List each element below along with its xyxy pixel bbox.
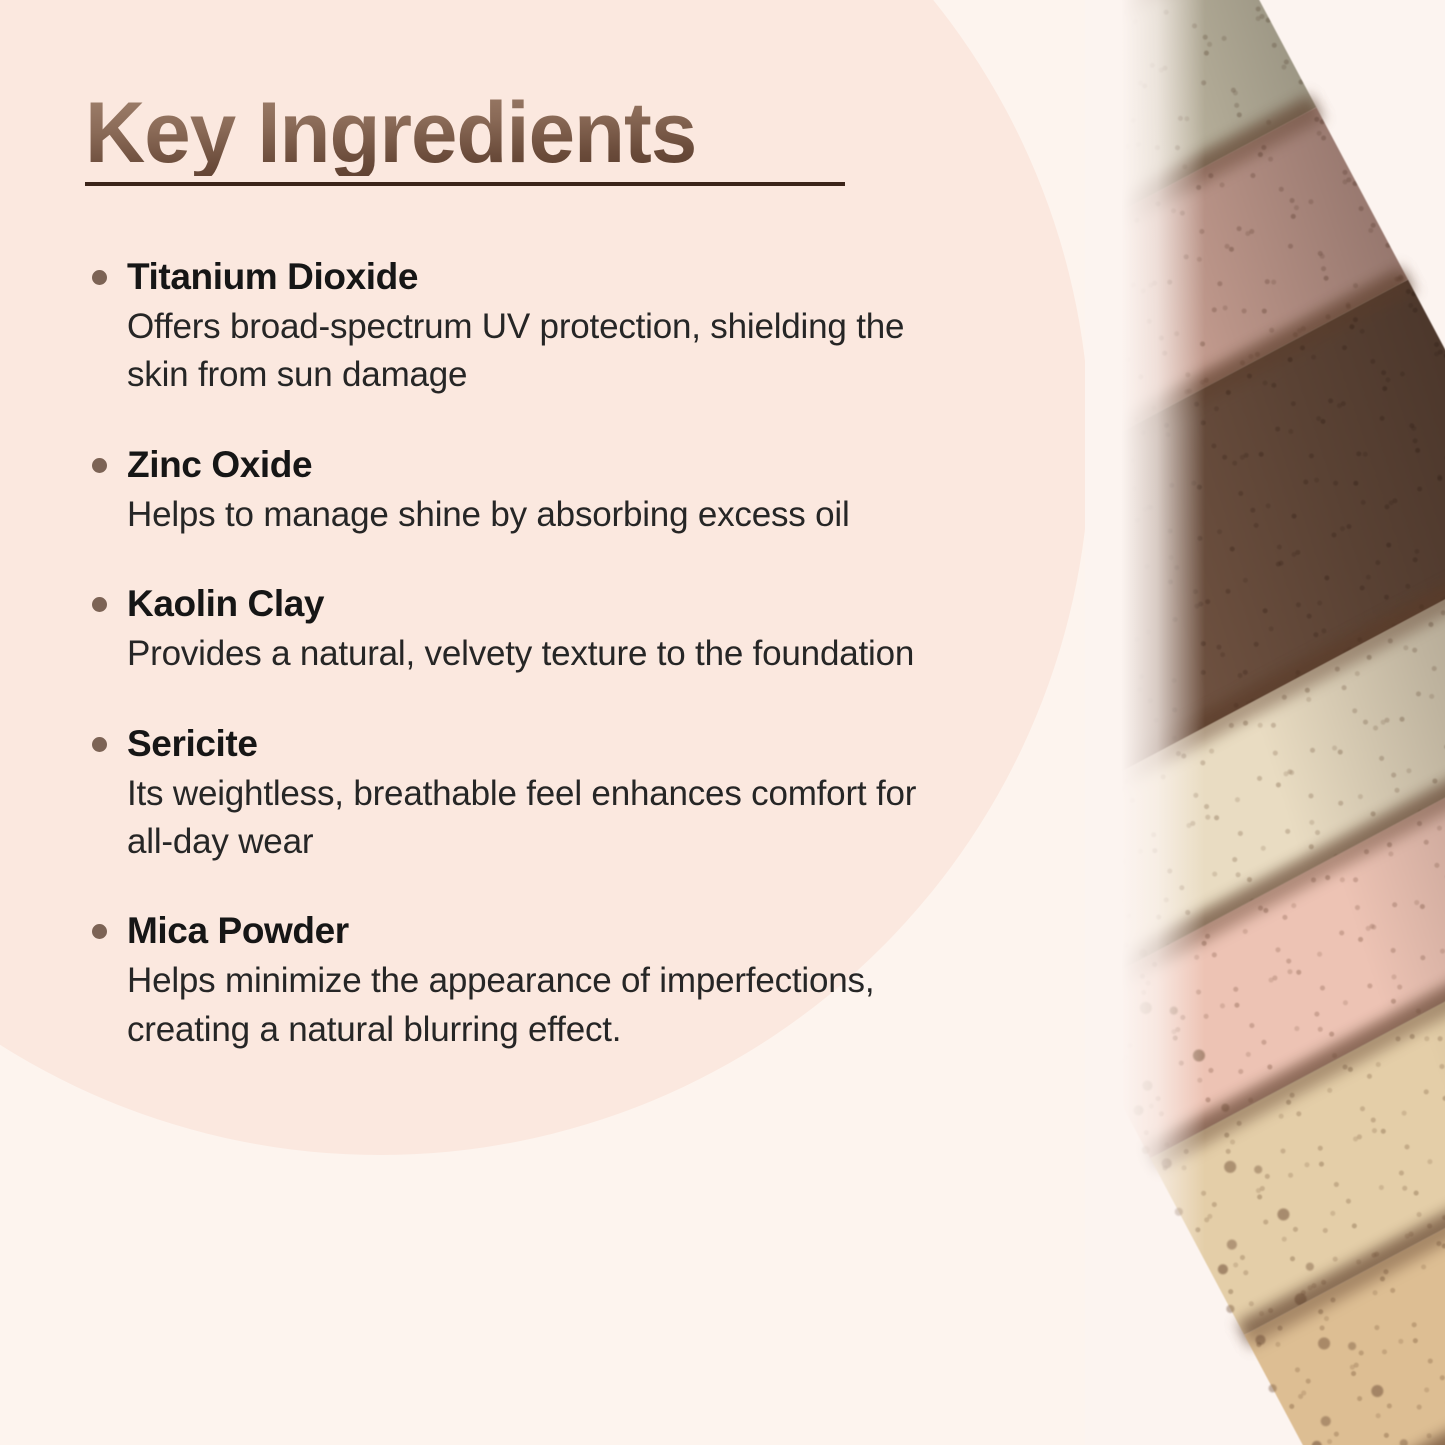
ingredient-list: Titanium Dioxide Offers broad-spectrum U… [85,254,985,1054]
list-item: Zinc Oxide Helps to manage shine by abso… [85,442,985,539]
ingredient-name: Zinc Oxide [127,442,985,487]
powder-left-feather [1085,0,1205,1445]
bullet-dot-icon [92,737,107,752]
ingredient-name: Kaolin Clay [127,581,985,626]
content-column: Key Ingredients Titanium Dioxide Offers … [85,90,985,976]
ingredient-name: Sericite [127,721,985,766]
bullet-dot-icon [92,458,107,473]
ingredient-name: Mica Powder [127,908,985,953]
title-underline-rule [85,182,845,186]
page-title: Key Ingredients [85,90,824,176]
ingredient-description: Its weightless, breathable feel enhances… [127,770,917,867]
bullet-dot-icon [92,270,107,285]
key-ingredients-infographic: Key Ingredients Titanium Dioxide Offers … [0,0,1445,1445]
ingredient-description: Provides a natural, velvety texture to t… [127,630,917,678]
list-item: Kaolin Clay Provides a natural, velvety … [85,581,985,678]
ingredient-name: Titanium Dioxide [127,254,985,299]
ingredient-description: Helps minimize the appearance of imperfe… [127,957,917,1054]
bullet-dot-icon [92,924,107,939]
list-item: Mica Powder Helps minimize the appearanc… [85,908,985,1054]
list-item: Titanium Dioxide Offers broad-spectrum U… [85,254,985,400]
ingredient-description: Offers broad-spectrum UV protection, shi… [127,303,917,400]
powder-swatch-image [1085,0,1445,1445]
ingredient-description: Helps to manage shine by absorbing exces… [127,491,917,539]
list-item: Sericite Its weightless, breathable feel… [85,721,985,867]
bullet-dot-icon [92,597,107,612]
title-block: Key Ingredients [85,90,847,176]
